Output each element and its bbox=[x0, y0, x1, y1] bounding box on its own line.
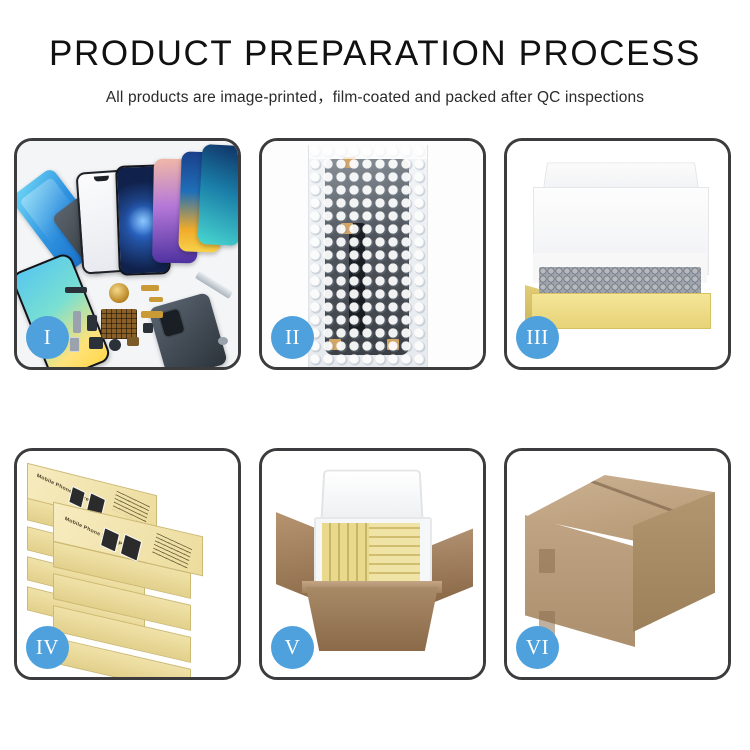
bubble-wrap-bag bbox=[308, 145, 428, 367]
small-part-5 bbox=[87, 315, 97, 331]
page-subtitle: All products are image-printed，film-coat… bbox=[0, 85, 750, 107]
bubble-texture bbox=[309, 145, 427, 367]
process-step-grid: I II III bbox=[14, 138, 736, 680]
yellow-box-row-horizontal bbox=[369, 523, 420, 581]
small-part-9 bbox=[89, 337, 103, 349]
speaker-coil-part bbox=[109, 283, 129, 303]
process-step-panel-6[interactable]: VI bbox=[504, 448, 731, 680]
step-badge-4: IV bbox=[26, 626, 69, 669]
box-spec-lines-front bbox=[152, 533, 192, 569]
process-step-panel-1[interactable]: I bbox=[14, 138, 241, 370]
box-front-panel bbox=[531, 293, 711, 329]
process-step-panel-2[interactable]: II bbox=[259, 138, 486, 370]
sealed-carton bbox=[525, 475, 715, 657]
small-part-2 bbox=[141, 285, 159, 291]
box-screen-thumb-front-2 bbox=[120, 533, 142, 561]
page-title: PRODUCT PREPARATION PROCESS bbox=[0, 36, 750, 71]
bag-seal-strip bbox=[309, 145, 427, 159]
yellow-box-row-vertical bbox=[322, 523, 369, 581]
step-badge-1: I bbox=[26, 316, 69, 359]
small-part-6 bbox=[141, 311, 163, 318]
logic-board-part bbox=[101, 309, 137, 339]
page-header: PRODUCT PREPARATION PROCESS All products… bbox=[0, 0, 750, 107]
small-part-8 bbox=[69, 337, 80, 352]
carton-front-panel bbox=[306, 587, 438, 651]
screw-part bbox=[218, 337, 228, 345]
small-part-7 bbox=[143, 323, 153, 333]
small-part-1 bbox=[65, 287, 87, 293]
box-screen-thumb-front-1 bbox=[100, 527, 120, 553]
process-step-panel-3[interactable]: III bbox=[504, 138, 731, 370]
step-badge-3: III bbox=[516, 316, 559, 359]
carton-tape-tab-upper bbox=[539, 549, 555, 573]
small-part-11 bbox=[127, 337, 139, 346]
small-part-4 bbox=[73, 311, 81, 333]
step-badge-6: VI bbox=[516, 626, 559, 669]
small-part-3 bbox=[149, 297, 163, 302]
teal-gradient-phone bbox=[197, 144, 238, 246]
step-badge-5: V bbox=[271, 626, 314, 669]
step-badge-2: II bbox=[271, 316, 314, 359]
process-step-panel-4[interactable]: Mobile Phone Spare Parts Mobile Phone Sp… bbox=[14, 448, 241, 680]
process-step-panel-5[interactable]: V bbox=[259, 448, 486, 680]
yellow-boxes-inside bbox=[322, 523, 420, 581]
small-part-10 bbox=[109, 339, 121, 351]
